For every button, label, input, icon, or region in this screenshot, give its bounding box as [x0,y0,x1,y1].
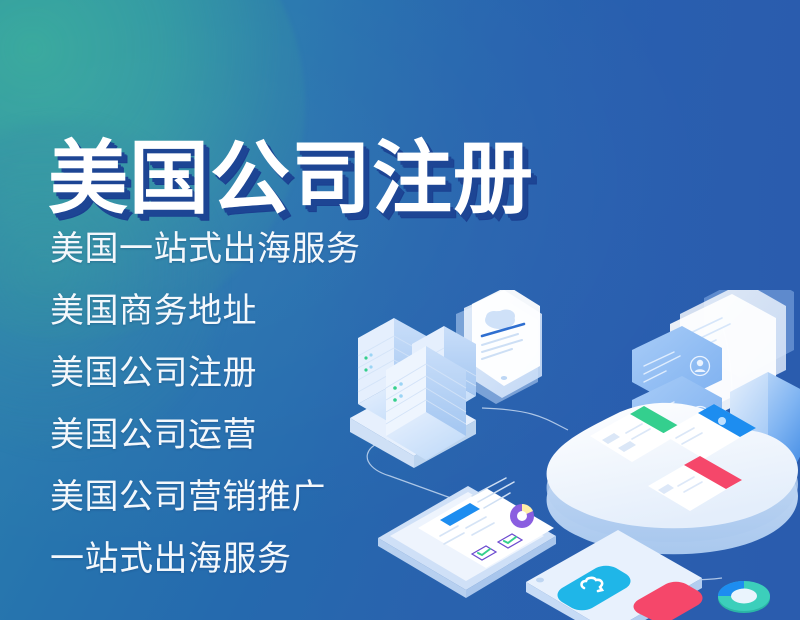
feature-list: 美国一站式出海服务 美国商务地址 美国公司注册 美国公司运营 美国公司营销推广 … [50,218,361,590]
list-item: 美国一站式出海服务 [50,218,361,280]
list-item: 一站式出海服务 [50,528,361,590]
list-item: 美国商务地址 [50,280,361,342]
list-item: 美国公司运营 [50,404,361,466]
progress-ring [718,581,770,613]
list-item: 美国公司注册 [50,342,361,404]
page-title: 美国公司注册 [48,132,534,226]
promo-banner: 美国公司注册 美国一站式出海服务 美国商务地址 美国公司注册 美国公司运营 美国… [0,0,800,620]
list-item: 美国公司营销推广 [50,466,361,528]
banner-content: 美国公司注册 美国一站式出海服务 美国商务地址 美国公司注册 美国公司运营 美国… [0,0,560,620]
